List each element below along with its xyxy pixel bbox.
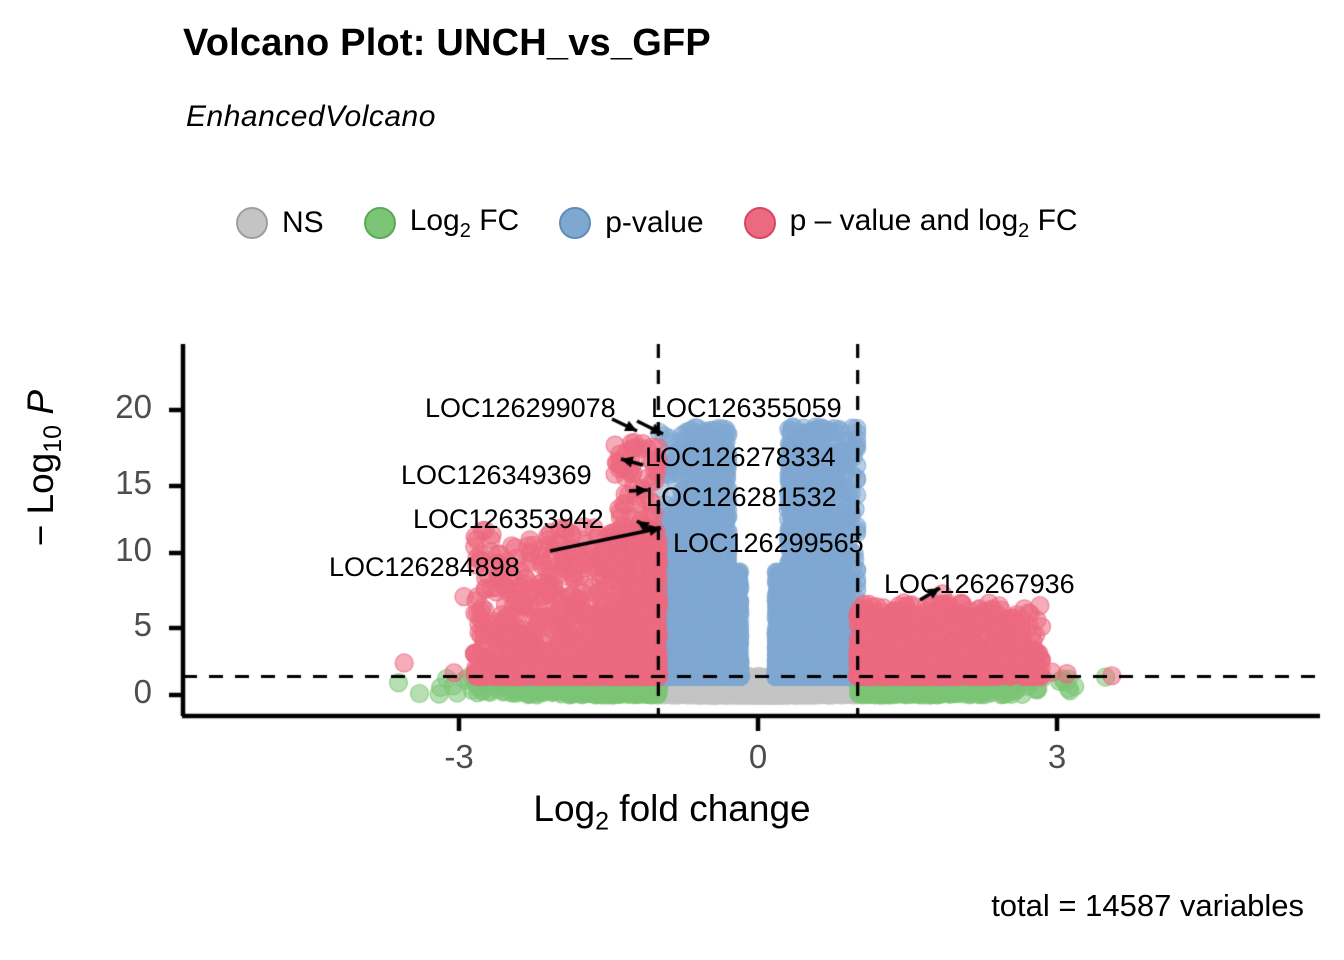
gene-label-LOC126299078: LOC126299078 xyxy=(425,395,616,422)
y-tick-label: 15 xyxy=(60,464,152,502)
gene-label-LOC126281532: LOC126281532 xyxy=(646,484,837,511)
x-tick-label: 0 xyxy=(698,738,818,776)
gene-label-LOC126278334: LOC126278334 xyxy=(645,444,836,471)
x-tick-label: -3 xyxy=(399,738,519,776)
gene-label-LOC126353942: LOC126353942 xyxy=(413,506,604,533)
x-tick-label: 3 xyxy=(997,738,1117,776)
y-tick-label: 10 xyxy=(60,531,152,569)
y-tick-label: 20 xyxy=(60,388,152,426)
gene-label-LOC126355059: LOC126355059 xyxy=(651,395,842,422)
y-tick-label: 5 xyxy=(60,606,152,644)
y-tick-label: 0 xyxy=(60,673,152,711)
gene-label-LOC126299565: LOC126299565 xyxy=(673,530,864,557)
total-variables-caption: total = 14587 variables xyxy=(991,888,1304,924)
volcano-plot-figure: Volcano Plot: UNCH_vs_GFP EnhancedVolcan… xyxy=(0,0,1344,960)
gene-label-LOC126267936: LOC126267936 xyxy=(884,571,1075,598)
y-axis-title: − Log10 P xyxy=(20,303,68,633)
gene-label-LOC126349369: LOC126349369 xyxy=(401,462,592,489)
gene-label-LOC126284898: LOC126284898 xyxy=(329,554,520,581)
x-axis-title: Log2 fold change xyxy=(0,788,1344,836)
